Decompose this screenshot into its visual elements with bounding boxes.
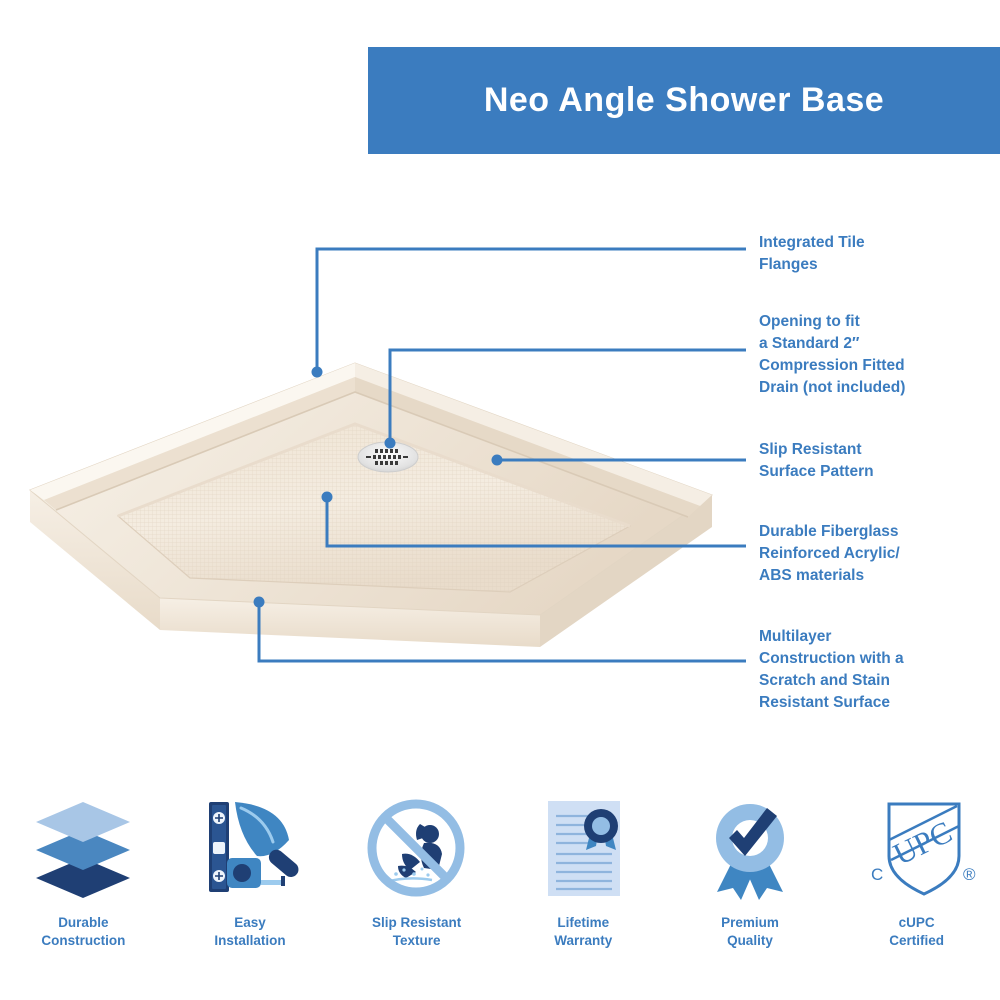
product-illustration	[0, 330, 770, 660]
callout-line: Integrated Tile	[759, 232, 999, 254]
caption-line: Easy	[214, 914, 285, 932]
infographic-canvas: Neo Angle Shower Base	[0, 0, 1000, 1000]
caption-line: cUPC	[889, 914, 944, 932]
feature-caption: Easy Installation	[214, 914, 285, 949]
feature-badges-row: Durable Construction	[0, 788, 1000, 978]
caption-line: Durable	[41, 914, 125, 932]
callout-line: Flanges	[759, 254, 999, 276]
feature-cupc-certified: UPC C ® cUPC Certified	[837, 788, 997, 949]
callout-multilayer-construction: Multilayer Construction with a Scratch a…	[759, 626, 999, 714]
drain-grate	[358, 442, 418, 472]
caption-line: Warranty	[554, 932, 612, 950]
callout-line: a Standard 2″	[759, 333, 999, 355]
caption-line: Construction	[41, 932, 125, 950]
quality-rosette-check-icon	[695, 788, 805, 908]
page-title: Neo Angle Shower Base	[484, 81, 884, 120]
caption-line: Installation	[214, 932, 285, 950]
feature-premium-quality: Premium Quality	[670, 788, 830, 949]
feature-lifetime-warranty: Lifetime Warranty	[503, 788, 663, 949]
feature-caption: Lifetime Warranty	[554, 914, 612, 949]
callout-line: Compression Fitted	[759, 355, 999, 377]
caption-line: Lifetime	[554, 914, 612, 932]
callout-line: Resistant Surface	[759, 692, 999, 714]
feature-caption: Premium Quality	[721, 914, 779, 949]
cupc-shield-icon: UPC C ®	[857, 788, 977, 908]
feature-caption: Slip Resistant Texture	[372, 914, 461, 949]
caption-line: Certified	[889, 932, 944, 950]
feature-caption: Durable Construction	[41, 914, 125, 949]
caption-line: Quality	[721, 932, 779, 950]
callout-slip-resistant-surface: Slip Resistant Surface Pattern	[759, 439, 999, 483]
cupc-left-mark: C	[871, 865, 883, 884]
caption-line: Texture	[372, 932, 461, 950]
callout-line: ABS materials	[759, 565, 999, 587]
callout-line: Reinforced Acrylic/	[759, 543, 999, 565]
callout-line: Slip Resistant	[759, 439, 999, 461]
feature-durable-construction: Durable Construction	[3, 788, 163, 949]
feature-slip-resistant-texture: Slip Resistant Texture	[337, 788, 497, 949]
callout-line: Scratch and Stain	[759, 670, 999, 692]
callout-line: Durable Fiberglass	[759, 521, 999, 543]
caption-line: Premium	[721, 914, 779, 932]
callout-line: Construction with a	[759, 648, 999, 670]
no-slip-icon	[362, 788, 472, 908]
callout-line: Opening to fit	[759, 311, 999, 333]
feature-easy-installation: Easy Installation	[170, 788, 330, 949]
layers-icon	[28, 788, 138, 908]
feature-caption: cUPC Certified	[889, 914, 944, 949]
cupc-band-text: UPC	[887, 813, 957, 871]
caption-line: Slip Resistant	[372, 914, 461, 932]
title-banner: Neo Angle Shower Base	[368, 47, 1000, 154]
callout-durable-fiberglass: Durable Fiberglass Reinforced Acrylic/ A…	[759, 521, 999, 587]
callout-line: Multilayer	[759, 626, 999, 648]
callout-line: Drain (not included)	[759, 377, 999, 399]
callout-integrated-tile-flanges: Integrated Tile Flanges	[759, 232, 999, 276]
cupc-right-mark: ®	[963, 865, 976, 884]
level-trowel-tape-icon	[195, 788, 305, 908]
certificate-seal-icon	[528, 788, 638, 908]
callout-drain-opening: Opening to fit a Standard 2″ Compression…	[759, 311, 999, 399]
callout-line: Surface Pattern	[759, 461, 999, 483]
shower-base-drawing	[0, 330, 770, 660]
